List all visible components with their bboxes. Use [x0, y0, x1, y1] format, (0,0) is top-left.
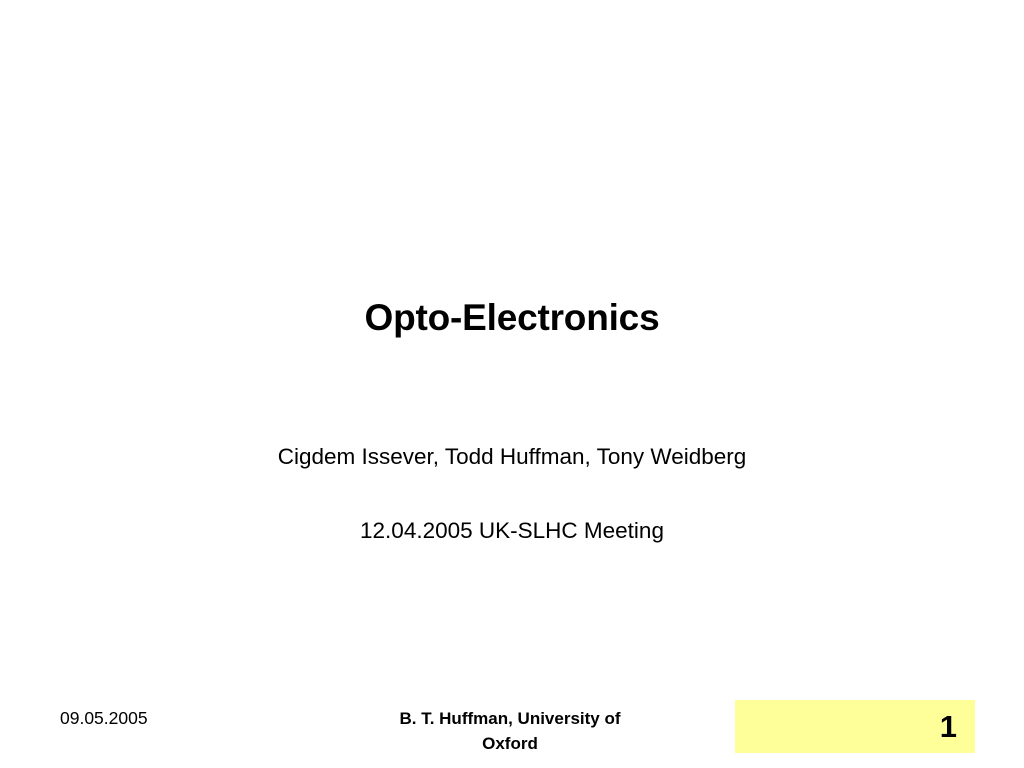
- page-number-box: 1: [735, 700, 975, 753]
- footer-date: 09.05.2005: [60, 706, 148, 730]
- title-block: Opto-Electronics: [0, 296, 1024, 340]
- page-number: 1: [940, 710, 957, 744]
- event-line: 12.04.2005 UK-SLHC Meeting: [0, 514, 1024, 548]
- presentation-slide: Opto-Electronics Cigdem Issever, Todd Hu…: [0, 0, 1024, 768]
- footer-credit: B. T. Huffman, University of Oxford: [372, 706, 648, 756]
- authors-line: Cigdem Issever, Todd Huffman, Tony Weidb…: [0, 440, 1024, 474]
- subtitle-block: Cigdem Issever, Todd Huffman, Tony Weidb…: [0, 440, 1024, 548]
- page-title: Opto-Electronics: [0, 296, 1024, 340]
